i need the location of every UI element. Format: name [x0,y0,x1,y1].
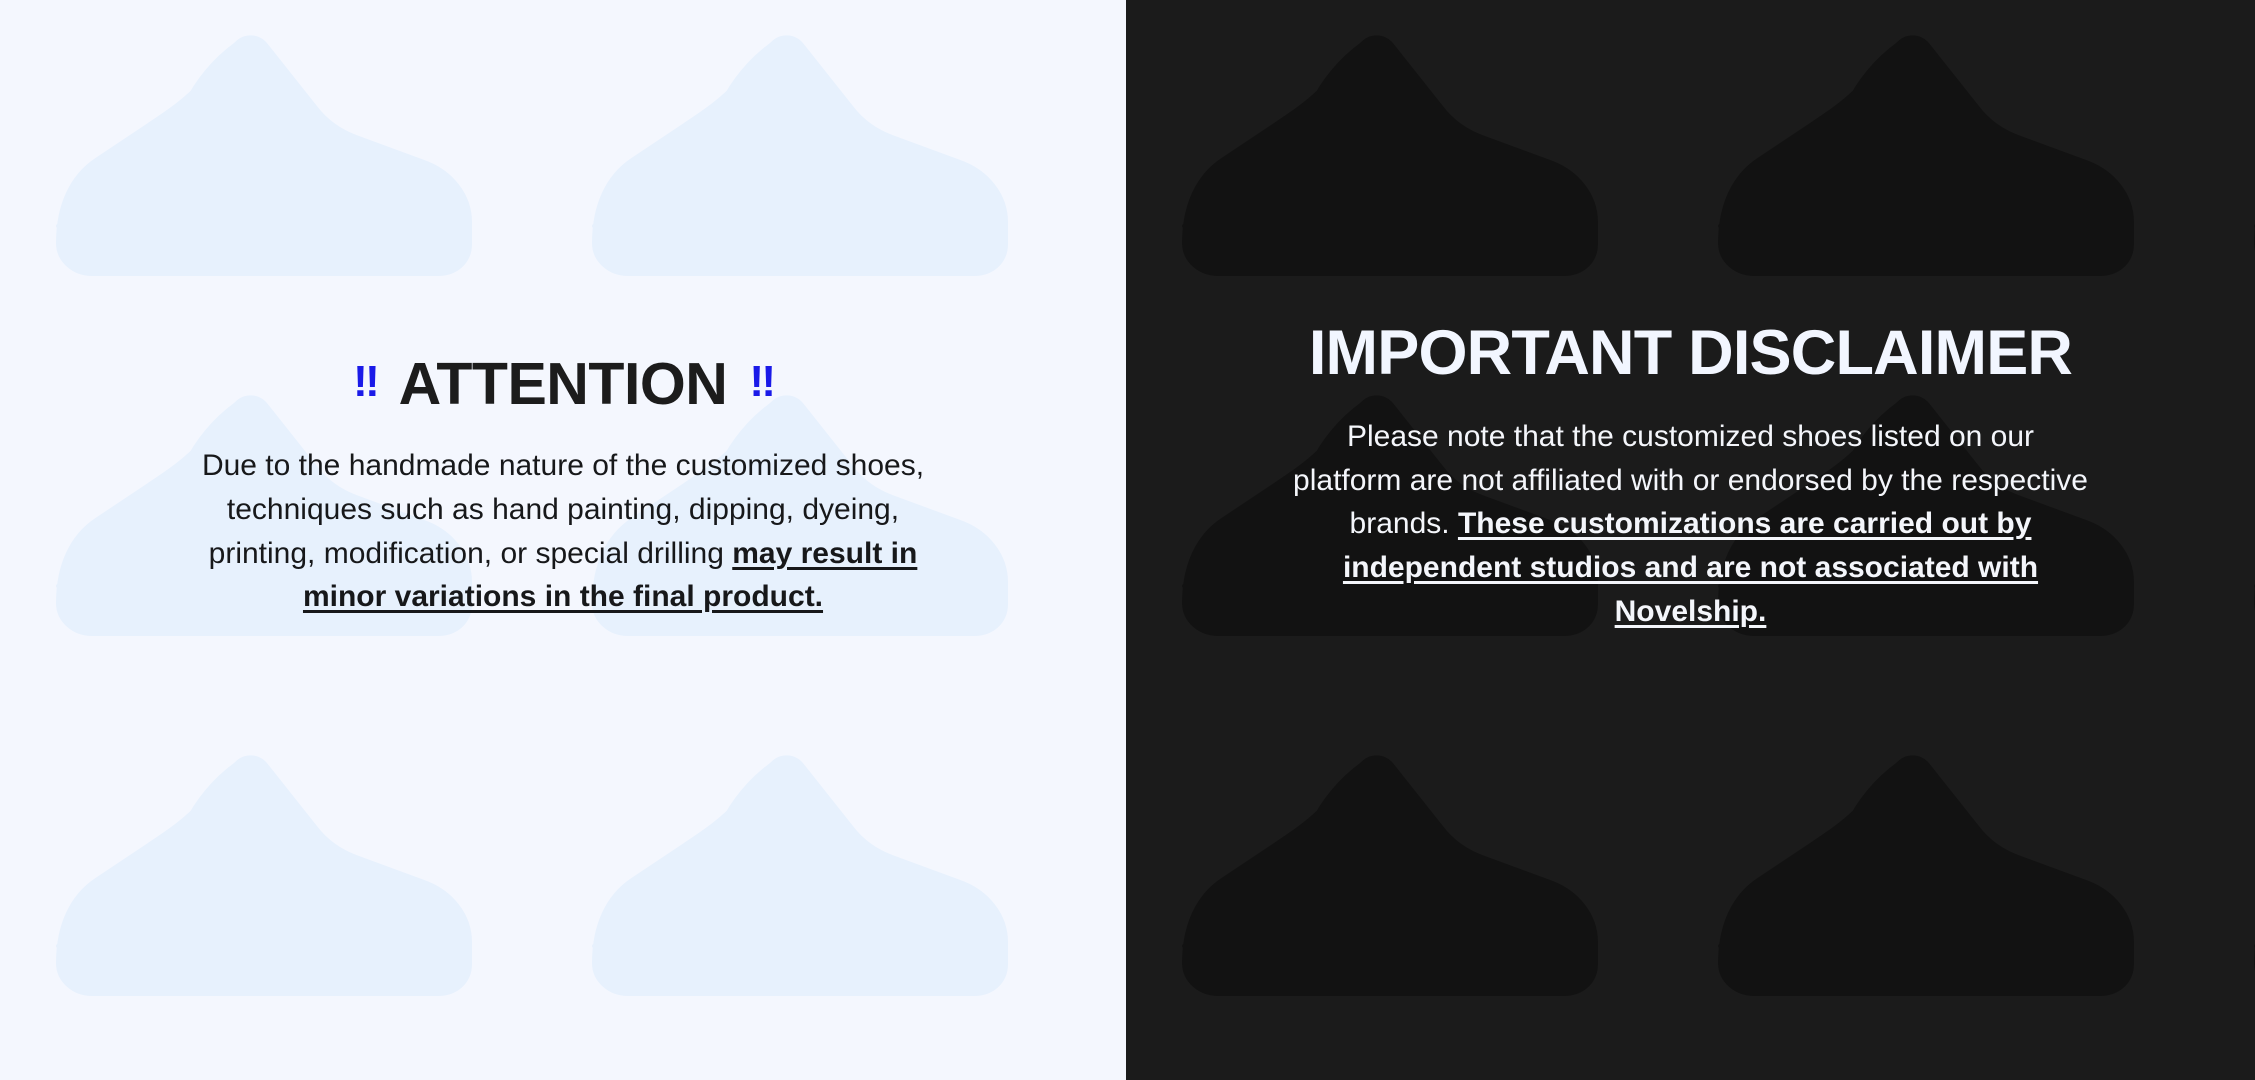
double-exclamation-icon-left: ‼ [353,360,377,404]
attention-body: Due to the handmade nature of the custom… [183,444,943,619]
attention-panel: ‼ ATTENTION ‼ Due to the handmade nature… [0,0,1126,1080]
double-exclamation-icon-right: ‼ [749,360,773,404]
attention-heading-label: ATTENTION [399,355,728,414]
disclaimer-banner: ‼ ATTENTION ‼ Due to the handmade nature… [0,0,2255,1080]
disclaimer-heading: IMPORTANT DISCLAIMER [1291,320,2091,387]
disclaimer-content: IMPORTANT DISCLAIMER Please note that th… [1291,0,2091,634]
disclaimer-body: Please note that the customized shoes li… [1291,415,2091,634]
attention-content: ‼ ATTENTION ‼ Due to the handmade nature… [183,0,943,619]
attention-heading: ‼ ATTENTION ‼ [183,355,943,414]
disclaimer-panel: IMPORTANT DISCLAIMER Please note that th… [1126,0,2255,1080]
